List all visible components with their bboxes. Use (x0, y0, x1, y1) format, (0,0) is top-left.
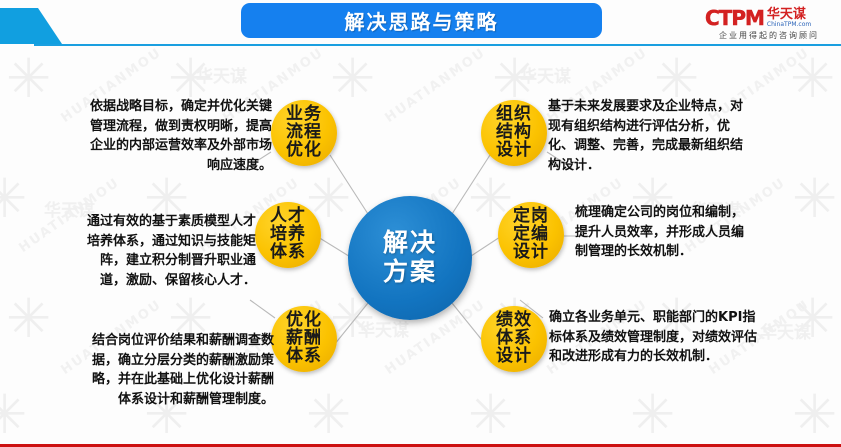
node-performance-system[interactable]: 绩效 体系 设计 (481, 306, 547, 372)
description-talent-development: 通过有效的基于素质模型人才培养体系，通过知识与技能矩阵，建立积分制晋升职业通道，… (86, 212, 256, 290)
node-position-staffing[interactable]: 定岗 定编 设计 (498, 202, 564, 268)
node-organization-structure-label: 组织 结构 设计 (496, 106, 532, 160)
logo-cn-name: 华天谋 (767, 8, 811, 21)
brand-logo: CTPM 华天谋 ChinaTPM.com 企业用得起的咨询顾问 (705, 6, 833, 44)
slide-header: 解决思路与策略 CTPM 华天谋 ChinaTPM.com 企业用得起的咨询顾问 (0, 0, 841, 47)
description-performance-system: 确立各业务单元、职能部门的KPI指标体系及绩效管理制度，对绩效评估和改进形成有力… (549, 308, 757, 367)
header-divider-line (34, 44, 841, 46)
node-compensation-optimization[interactable]: 优化 薪酬 体系 (271, 306, 337, 372)
description-position-staffing: 梳理确定公司的岗位和编制，提升人员效率，并形成人员编制管理的长效机制． (575, 203, 755, 262)
node-performance-system-label: 绩效 体系 设计 (496, 312, 532, 366)
node-compensation-optimization-label: 优化 薪酬 体系 (286, 312, 322, 366)
solution-diagram: 解决 方案 业务 流程 优化 人才 培养 体系 优化 薪酬 体系 组织 结构 设… (0, 0, 841, 444)
center-node-label: 解决 方案 (383, 229, 437, 287)
description-organization-structure: 基于未来发展要求及企业特点，对现有组织结构进行评估分析，优化、调整、完善，完成最… (548, 97, 746, 175)
logo-top-row: CTPM 华天谋 ChinaTPM.com (705, 6, 833, 28)
node-organization-structure[interactable]: 组织 结构 设计 (481, 100, 547, 166)
node-talent-development-label: 人才 培养 体系 (270, 208, 306, 262)
description-compensation-optimization: 结合岗位评价结果和薪酬调查数据，确立分层分类的薪酬激励策略，并在此基础上优化设计… (84, 331, 274, 409)
description-business-process: 依据战略目标，确定并优化关键管理流程，做到责权明晰，提高企业的内部运营效率及外部… (88, 97, 272, 175)
center-node-solution[interactable]: 解决 方案 (348, 196, 472, 320)
node-position-staffing-label: 定岗 定编 设计 (513, 208, 549, 262)
node-business-process[interactable]: 业务 流程 优化 (271, 100, 337, 166)
node-business-process-label: 业务 流程 优化 (286, 106, 322, 160)
page-title-pill: 解决思路与策略 (241, 3, 602, 38)
corner-decoration (0, 8, 62, 44)
slide-canvas: ✳ ✳ ✳ ✳ ✳ ✳ ✳ ✳ ✳ ✳ ✳ ✳ ✳ ✳ ✳ ✳ ✳ ✳ ✳ ✳ … (0, 0, 841, 447)
logo-tagline: 企业用得起的咨询顾问 (705, 30, 833, 41)
logo-domain: ChinaTPM.com (767, 22, 811, 28)
logo-cn-block: 华天谋 ChinaTPM.com (767, 8, 811, 28)
node-talent-development[interactable]: 人才 培养 体系 (255, 202, 321, 268)
logo-wordmark: CTPM (705, 8, 764, 28)
page-title: 解决思路与策略 (345, 6, 499, 35)
